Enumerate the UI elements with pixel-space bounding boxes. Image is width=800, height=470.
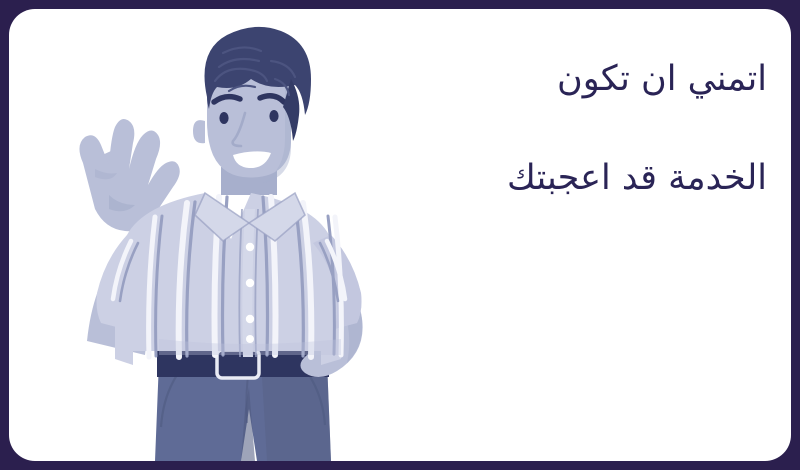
head	[193, 27, 311, 183]
message-text: اتمني ان تكون الخدمة قد اعجبتك	[347, 61, 767, 197]
greeting-card: اتمني ان تكون الخدمة قد اعجبتك	[0, 0, 800, 470]
message-line-2: الخدمة قد اعجبتك	[347, 160, 767, 197]
message-line-1: اتمني ان تكون	[347, 61, 767, 98]
card-inner-surface: اتمني ان تكون الخدمة قد اعجبتك	[9, 9, 791, 461]
